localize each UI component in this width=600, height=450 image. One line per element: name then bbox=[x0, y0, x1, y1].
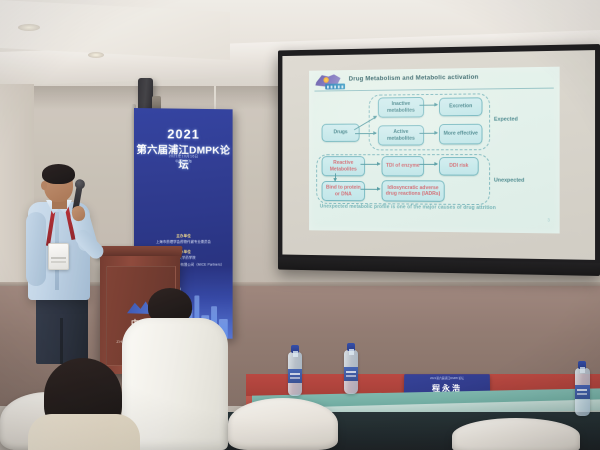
node-tdi-of-enzyme: TDI of enzyme bbox=[382, 156, 425, 176]
arrow-reactive-to-tdi bbox=[361, 164, 380, 165]
downlight-icon bbox=[18, 24, 40, 31]
banner-location: 中国·上海 bbox=[134, 159, 233, 165]
arrow-inactive-to-excretion bbox=[419, 105, 437, 106]
conference-room-photo: Drug Metabolism and Metabolic activation… bbox=[0, 0, 600, 450]
projection-screen: Drug Metabolism and Metabolic activation… bbox=[278, 44, 600, 276]
node-bind-to-protein-or-dna: Bind to protein or DNA bbox=[322, 181, 365, 201]
organizer-name: 上海市药理学会药物代谢专业委员会 bbox=[134, 239, 233, 244]
slide-caption: Unexpected metabolic profile is one of t… bbox=[320, 204, 496, 211]
node-active-metabolites: Active metabolites bbox=[378, 125, 424, 145]
screen-surface: Drug Metabolism and Metabolic activation… bbox=[282, 50, 595, 260]
arrow-reactive-to-bind bbox=[335, 173, 336, 180]
node-drugs: Drugs bbox=[322, 124, 360, 142]
chair bbox=[452, 418, 580, 450]
node-ddi-risk: DDI risk bbox=[439, 157, 479, 176]
name-badge bbox=[48, 243, 69, 270]
arrow-active-to-effective bbox=[419, 133, 437, 134]
banner-organizer-1: 主办单位 上海市药理学会药物代谢专业委员会 bbox=[134, 234, 233, 244]
trouser-seam bbox=[60, 318, 63, 364]
node-reactive-metabolites: Reactive Metabolites bbox=[322, 156, 365, 176]
water-bottle bbox=[288, 352, 302, 396]
water-bottle bbox=[344, 350, 358, 394]
name-card-event: 2021第六届浦江DMPK论坛 bbox=[404, 376, 490, 380]
presenter-left-arm bbox=[26, 212, 46, 286]
node-inactive-metabolites: Inactive metabolites bbox=[378, 97, 424, 118]
arrow-tdi-to-ddi bbox=[419, 164, 437, 165]
title-divider bbox=[314, 88, 553, 92]
presentation-slide: Drug Metabolism and Metabolic activation… bbox=[309, 67, 560, 234]
group-expected-label: Expected bbox=[494, 117, 518, 123]
presenter-ear bbox=[41, 181, 47, 190]
attendee-torso bbox=[28, 414, 140, 450]
banner-year: 2021 bbox=[134, 126, 233, 142]
water-bottle bbox=[575, 368, 590, 416]
slide-title: Drug Metabolism and Metabolic activation bbox=[349, 74, 479, 83]
chair bbox=[228, 398, 338, 450]
slide-page-number: 3 bbox=[547, 217, 549, 222]
node-more-effective: More effective bbox=[439, 124, 482, 145]
downlight-icon bbox=[88, 52, 104, 58]
presenter-hair bbox=[42, 164, 75, 184]
university-logo-icon bbox=[315, 73, 346, 90]
group-unexpected-label: Unexpected bbox=[494, 178, 524, 184]
arrow-drugs-to-active bbox=[355, 133, 376, 134]
node-iadrs: Idiosyncratic adverse drug reactions (IA… bbox=[382, 180, 445, 202]
arrow-bind-to-iadrs bbox=[361, 189, 380, 190]
node-excretion: Excretion bbox=[439, 97, 482, 116]
